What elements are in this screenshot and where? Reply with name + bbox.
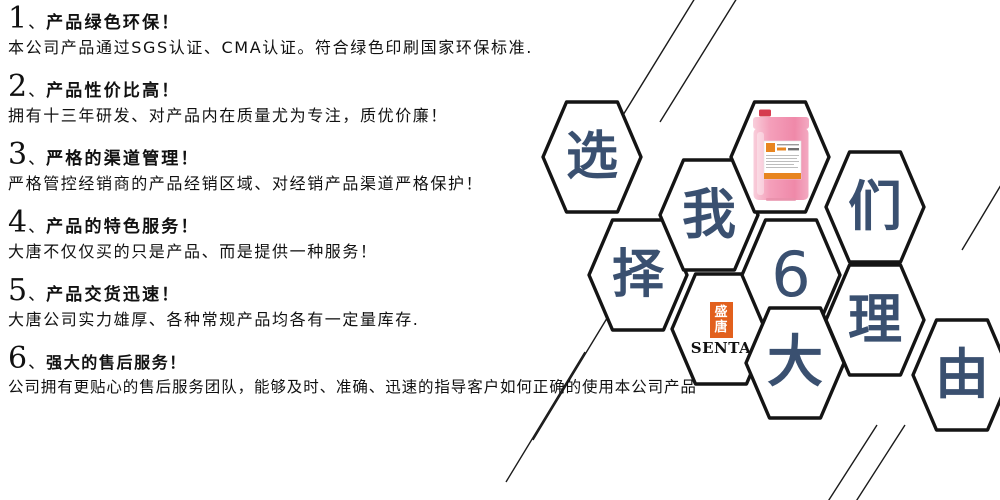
brand-logo-wordmark: SENTA [691, 339, 751, 357]
reasons-list: 1 、 产品绿色环保！ 本公司产品通过SGS认证、CMA认证。符合绿色印刷国家环… [8, 4, 678, 411]
brand-mark-char-sheng: 盛 [714, 305, 727, 320]
reason-3-separator: 、 [28, 151, 45, 168]
reason-5-body: 大唐公司实力雄厚、各种常规产品均各有一定量库存. [8, 310, 678, 330]
reason-5-title: 产品交货迅速！ [46, 287, 180, 304]
reason-2-separator: 、 [28, 83, 45, 100]
product-jerrycan-icon [753, 108, 809, 202]
reason-6-title: 强大的售后服务！ [46, 355, 187, 371]
reason-1-separator: 、 [28, 15, 45, 32]
reason-item-5: 5 、 产品交货迅速！ 大唐公司实力雄厚、各种常规产品均各有一定量库存. [8, 276, 678, 330]
reason-item-3: 3 、 严格的渠道管理！ 严格管控经销商的产品经销区域、对经销产品渠道严格保护！ [8, 140, 678, 194]
reason-6-heading: 6 、 强大的售后服务！ [8, 344, 678, 374]
reason-1-body: 本公司产品通过SGS认证、CMA认证。符合绿色印刷国家环保标准. [8, 38, 678, 58]
reason-4-body: 大唐不仅仅买的只是产品、而是提供一种服务！ [8, 242, 678, 262]
reason-item-4: 4 、 产品的特色服务！ 大唐不仅仅买的只是产品、而是提供一种服务！ [8, 208, 678, 262]
hex-cell-product-photo [729, 100, 831, 214]
reason-1-title: 产品绿色环保！ [46, 15, 180, 32]
reason-2-body: 拥有十三年研发、对产品内在质量尤为专注，质优价廉！ [8, 106, 678, 126]
reason-6-number: 6 [8, 344, 27, 374]
reason-4-title: 产品的特色服务！ [46, 219, 200, 236]
reason-4-heading: 4 、 产品的特色服务！ [8, 208, 678, 238]
reason-5-heading: 5 、 产品交货迅速！ [8, 276, 678, 306]
poster-canvas: 1 、 产品绿色环保！ 本公司产品通过SGS认证、CMA认证。符合绿色印刷国家环… [0, 0, 1000, 500]
reason-5-separator: 、 [28, 287, 45, 304]
brand-logo-mark: 盛 唐 [710, 302, 733, 338]
brand-mark-char-tang: 唐 [714, 320, 727, 335]
reason-3-heading: 3 、 严格的渠道管理！ [8, 140, 678, 170]
reason-6-body: 公司拥有更贴心的售后服务团队，能够及时、准确、迅速的指导客户如何正确的使用本公司… [8, 378, 678, 397]
reason-2-title: 产品性价比高！ [46, 83, 180, 100]
reason-1-number: 1 [8, 4, 27, 34]
reason-2-heading: 2 、 产品性价比高！ [8, 72, 678, 102]
reason-item-6: 6 、 强大的售后服务！ 公司拥有更贴心的售后服务团队，能够及时、准确、迅速的指… [8, 344, 678, 397]
reason-5-number: 5 [8, 276, 27, 306]
reason-4-number: 4 [8, 208, 27, 238]
hex-label-men: 们 [824, 150, 926, 264]
hex-label-you: 由 [911, 318, 1000, 432]
reason-4-separator: 、 [28, 219, 45, 236]
reason-item-1: 1 、 产品绿色环保！ 本公司产品通过SGS认证、CMA认证。符合绿色印刷国家环… [8, 4, 678, 58]
hex-cell-men: 们 [824, 150, 926, 264]
reason-3-body: 严格管控经销商的产品经销区域、对经销产品渠道严格保护！ [8, 174, 678, 194]
reason-3-number: 3 [8, 140, 27, 170]
reason-6-separator: 、 [28, 355, 45, 372]
reason-item-2: 2 、 产品性价比高！ 拥有十三年研发、对产品内在质量尤为专注，质优价廉！ [8, 72, 678, 126]
hex-cell-you: 由 [911, 318, 1000, 432]
reason-2-number: 2 [8, 72, 27, 102]
reason-3-title: 严格的渠道管理！ [46, 151, 200, 168]
reason-1-heading: 1 、 产品绿色环保！ [8, 4, 678, 34]
